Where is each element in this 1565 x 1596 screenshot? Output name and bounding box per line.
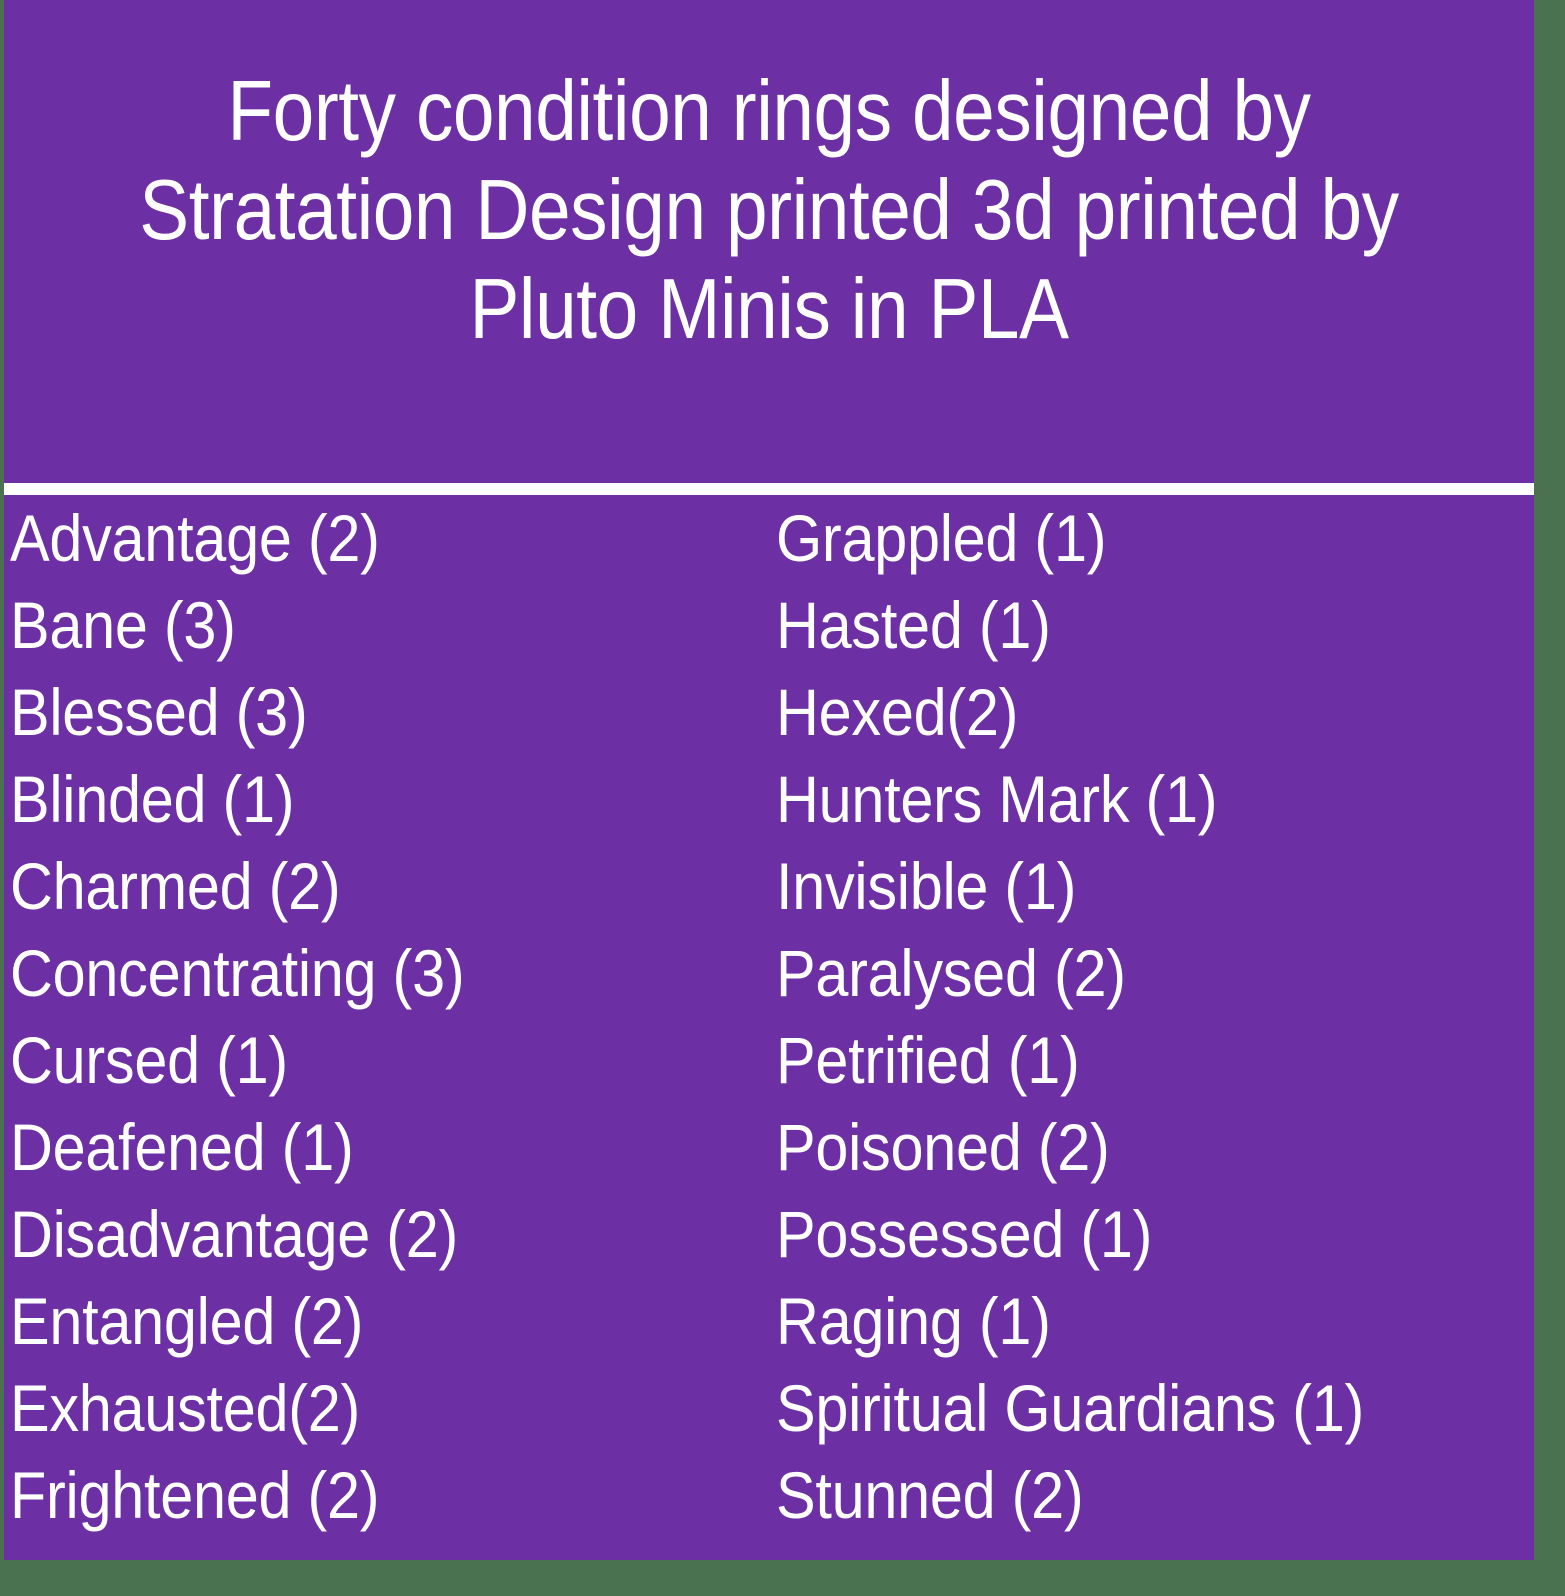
list-item: Frightened (2) bbox=[10, 1452, 694, 1539]
list-item: Deafened (1) bbox=[10, 1104, 694, 1191]
list-item: Invisible (1) bbox=[776, 843, 1458, 930]
list-item: Poisoned (2) bbox=[776, 1104, 1458, 1191]
list-item: Blinded (1) bbox=[10, 756, 694, 843]
list-item: Paralysed (2) bbox=[776, 930, 1458, 1017]
page-title: Forty condition rings designed by Strata… bbox=[112, 0, 1427, 359]
list-item: Entangled (2) bbox=[10, 1278, 694, 1365]
list-item: Stunned (2) bbox=[776, 1452, 1458, 1539]
page-root: Forty condition rings designed by Strata… bbox=[0, 0, 1565, 1596]
condition-column-right: Grappled (1) Hasted (1) Hexed(2) Hunters… bbox=[770, 495, 1534, 1560]
condition-column-left: Advantage (2) Bane (3) Blessed (3) Blind… bbox=[4, 495, 770, 1560]
list-item: Concentrating (3) bbox=[10, 930, 694, 1017]
list-item: Grappled (1) bbox=[776, 495, 1458, 582]
list-item: Hasted (1) bbox=[776, 582, 1458, 669]
list-item: Charmed (2) bbox=[10, 843, 694, 930]
list-item: Disadvantage (2) bbox=[10, 1191, 694, 1278]
card-header: Forty condition rings designed by Strata… bbox=[4, 0, 1534, 483]
list-item: Spiritual Guardians (1) bbox=[776, 1365, 1458, 1452]
condition-list: Advantage (2) Bane (3) Blessed (3) Blind… bbox=[4, 495, 1534, 1560]
list-item: Raging (1) bbox=[776, 1278, 1458, 1365]
list-item: Blessed (3) bbox=[10, 669, 694, 756]
list-item: Hexed(2) bbox=[776, 669, 1458, 756]
condition-rings-card: Forty condition rings designed by Strata… bbox=[4, 0, 1534, 1560]
list-item: Advantage (2) bbox=[10, 495, 694, 582]
list-item: Bane (3) bbox=[10, 582, 694, 669]
list-item: Hunters Mark (1) bbox=[776, 756, 1458, 843]
list-item: Petrified (1) bbox=[776, 1017, 1458, 1104]
list-item: Cursed (1) bbox=[10, 1017, 694, 1104]
header-divider bbox=[4, 483, 1534, 495]
list-item: Exhausted(2) bbox=[10, 1365, 694, 1452]
list-item: Possessed (1) bbox=[776, 1191, 1458, 1278]
